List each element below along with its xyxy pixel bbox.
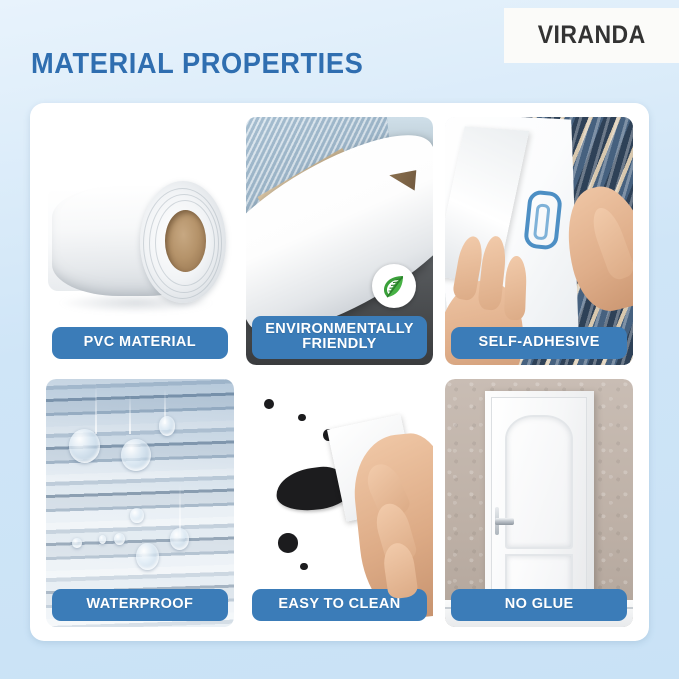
water-droplet xyxy=(99,535,107,544)
feature-label-pvc-material: PVC MATERIAL xyxy=(52,327,228,359)
eco-badge xyxy=(372,264,416,308)
door-leaf xyxy=(491,397,587,610)
water-droplet xyxy=(130,508,143,523)
feature-label-line-1: ENVIRONMENTALLY xyxy=(254,322,426,338)
water-streak xyxy=(129,394,131,434)
feature-tile-environmentally-friendly[interactable]: ENVIRONMENTALLY FRIENDLY xyxy=(246,117,434,365)
feature-label-waterproof: WATERPROOF xyxy=(52,589,228,621)
feature-label-line-2: FRIENDLY xyxy=(254,337,426,353)
feature-tile-easy-to-clean[interactable]: EASY TO CLEAN xyxy=(246,379,434,627)
water-streak xyxy=(95,384,97,434)
stain-spot xyxy=(300,563,308,570)
brand-name: VIRANDA xyxy=(537,21,645,50)
leaf-icon xyxy=(379,271,409,301)
brand-badge: VIRANDA xyxy=(504,8,679,63)
feature-label-no-glue: NO GLUE xyxy=(451,589,627,621)
feature-label-self-adhesive: SELF-ADHESIVE xyxy=(451,327,627,359)
water-droplet xyxy=(170,528,189,550)
feature-grid: PVC MATERIAL xyxy=(46,117,633,627)
door-panel-top xyxy=(505,415,573,550)
feature-tile-no-glue[interactable]: NO GLUE xyxy=(445,379,633,627)
stain-spot xyxy=(278,533,299,553)
paperclip-icon xyxy=(523,190,563,251)
roll-core-hole xyxy=(171,217,203,264)
feature-tile-self-adhesive[interactable]: SELF-ADHESIVE xyxy=(445,117,633,365)
door-handle xyxy=(495,518,514,525)
water-droplet xyxy=(69,429,101,464)
water-droplet xyxy=(136,543,159,570)
finger xyxy=(504,256,527,321)
page-title: MATERIAL PROPERTIES xyxy=(31,48,363,81)
feature-tile-pvc-material[interactable]: PVC MATERIAL xyxy=(46,117,234,365)
feature-tile-waterproof[interactable]: WATERPROOF xyxy=(46,379,234,627)
water-droplet xyxy=(72,538,81,548)
stain-spot xyxy=(298,414,306,421)
water-droplet xyxy=(159,416,176,436)
feature-card: PVC MATERIAL xyxy=(30,103,649,641)
stain-spot xyxy=(264,399,273,409)
door-frame xyxy=(485,391,594,609)
water-droplet xyxy=(114,533,125,545)
water-droplet xyxy=(121,439,151,471)
feature-label-environmentally-friendly: ENVIRONMENTALLY FRIENDLY xyxy=(252,316,428,359)
